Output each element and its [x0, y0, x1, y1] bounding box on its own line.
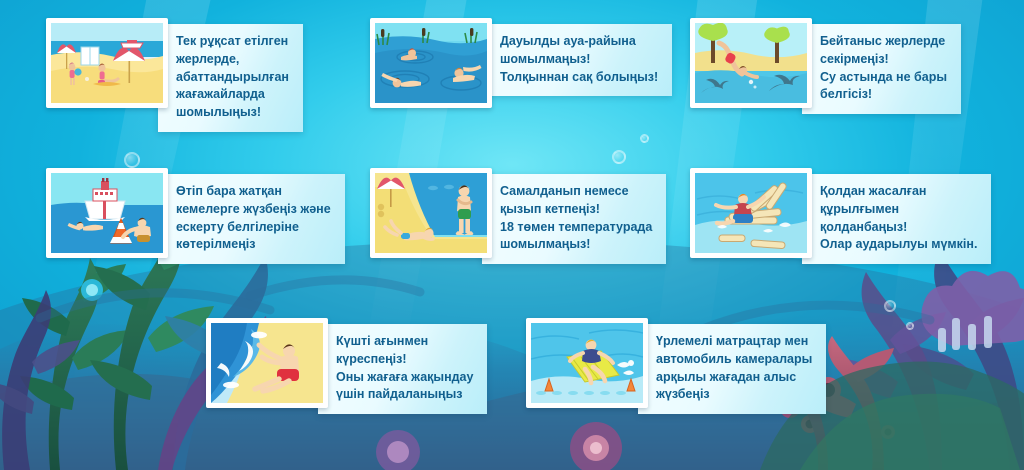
card-passing-ships[interactable]: Өтіп бара жатқан кемелерге жүзбеңіз және…: [46, 168, 345, 264]
caption-unknown-places: Бейтаныс жерлерде секірмеңіз! Су астында…: [802, 24, 961, 114]
thumb-frame: [690, 18, 812, 108]
thumb-frame: [690, 168, 812, 258]
illustration-sunbathing-and-shivering: [375, 173, 487, 253]
illustration-strong-current: [211, 323, 323, 403]
card-overheating[interactable]: Самалданып немесе қызып кетпеңіз! 18 төм…: [370, 168, 666, 264]
water-safety-poster: Тек рұқсат етілген жерлерде, абаттандыры…: [0, 0, 1024, 470]
thumb-frame: [370, 18, 492, 108]
caption-strong-current: Күшті ағынмен күреспеңіз! Оны жағаға жақ…: [318, 324, 487, 414]
illustration-inflatable-mattress: [531, 323, 643, 403]
illustration-ship-and-swimmer: [51, 173, 163, 253]
card-permitted-places[interactable]: Тек рұқсат етілген жерлерде, абаттандыры…: [46, 18, 303, 132]
thumb-frame: [526, 318, 648, 408]
card-unknown-places[interactable]: Бейтаныс жерлерде секірмеңіз! Су астында…: [690, 18, 961, 114]
thumb-frame: [370, 168, 492, 258]
thumb-frame: [46, 18, 168, 108]
card-homemade-raft[interactable]: Қолдан жасалған құрылғымен қолданбаңыз! …: [690, 168, 991, 264]
card-stormy-weather[interactable]: Дауылды ауа-райына шомылмаңыз! Толқыннан…: [370, 18, 672, 108]
card-inflatable-mattress[interactable]: Үрлемелі матрацтар мен автомобиль камера…: [526, 318, 826, 414]
card-strong-current[interactable]: Күшті ағынмен күреспеңіз! Оны жағаға жақ…: [206, 318, 487, 414]
caption-permitted-places: Тек рұқсат етілген жерлерде, абаттандыры…: [158, 24, 303, 132]
illustration-diving-unknown-water: [695, 23, 807, 103]
caption-overheating: Самалданып немесе қызып кетпеңіз! 18 төм…: [482, 174, 666, 264]
caption-inflatable-mattress: Үрлемелі матрацтар мен автомобиль камера…: [638, 324, 826, 414]
caption-stormy-weather: Дауылды ауа-райына шомылмаңыз! Толқыннан…: [482, 24, 672, 96]
bubble-icon: [884, 300, 896, 312]
bubble-icon: [612, 150, 626, 164]
bubble-icon: [906, 322, 914, 330]
caption-homemade-raft: Қолдан жасалған құрылғымен қолданбаңыз! …: [802, 174, 991, 264]
illustration-homemade-raft: [695, 173, 807, 253]
bubble-icon: [124, 152, 140, 168]
illustration-rough-water-swimmers: [375, 23, 487, 103]
thumb-frame: [46, 168, 168, 258]
caption-passing-ships: Өтіп бара жатқан кемелерге жүзбеңіз және…: [158, 174, 345, 264]
bubble-icon: [640, 134, 649, 143]
illustration-beach-umbrellas: [51, 23, 163, 103]
thumb-frame: [206, 318, 328, 408]
